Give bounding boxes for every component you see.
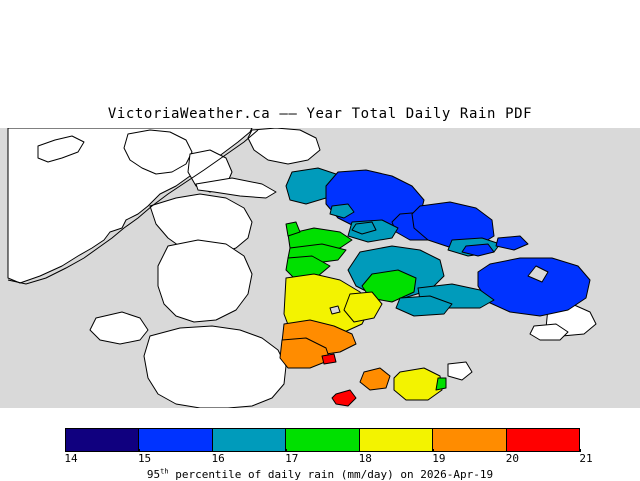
weather-map-page: VictoriaWeather.ca —— Year Total Daily R… (0, 0, 640, 480)
colorbar-tick-labels: 1415161718192021 (0, 452, 640, 466)
colorbar-segment-teal (213, 429, 286, 451)
region-saanich-yellow-lake (330, 306, 340, 314)
colorbar-area: 1415161718192021 95th percentile of dail… (0, 420, 640, 480)
caption-ordinal-suffix: th (160, 467, 168, 475)
page-title: VictoriaWeather.ca —— Year Total Daily R… (0, 106, 640, 122)
colorbar-tick-14: 14 (64, 452, 77, 465)
colorbar-segment-yellow (360, 429, 433, 451)
colorbar-segment-blue (139, 429, 212, 451)
colorbar-segment-green (286, 429, 359, 451)
colorbar-tick-20: 20 (506, 452, 519, 465)
colorbar-tick-16: 16 (212, 452, 225, 465)
colorbar-segment-navy (66, 429, 139, 451)
colorbar-tick-19: 19 (432, 452, 445, 465)
map-panel (0, 128, 640, 408)
colorbar-tick-15: 15 (138, 452, 151, 465)
caption-value: 95 (147, 468, 160, 481)
caption-rest: percentile of daily rain (mm/day) on 202… (169, 468, 494, 481)
colorbar (65, 428, 580, 452)
region-victoria-red-spot (322, 354, 336, 364)
region-south-island-green-tip (436, 378, 446, 390)
colorbar-segment-red (507, 429, 579, 451)
colorbar-segment-orange (433, 429, 506, 451)
colorbar-caption: 95th percentile of daily rain (mm/day) o… (0, 468, 640, 481)
rain-percentile-map (0, 128, 640, 408)
colorbar-tick-17: 17 (285, 452, 298, 465)
colorbar-tick-21: 21 (579, 452, 592, 465)
colorbar-tick-18: 18 (359, 452, 372, 465)
